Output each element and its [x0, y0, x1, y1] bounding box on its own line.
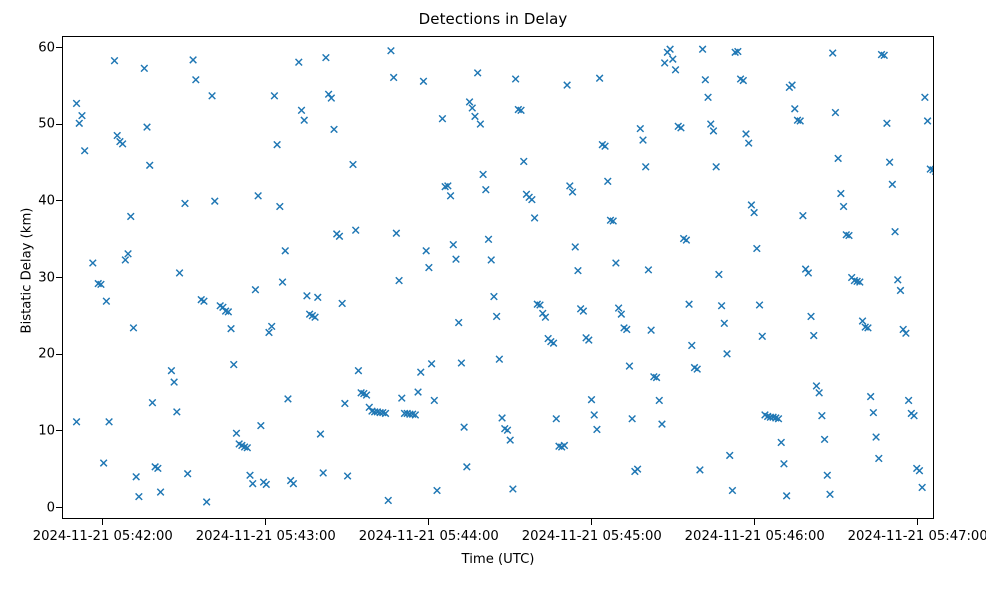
scatter-marker: [924, 118, 931, 125]
scatter-marker: [726, 452, 733, 459]
scatter-marker: [561, 442, 568, 449]
scatter-marker: [268, 323, 275, 330]
scatter-marker: [157, 489, 164, 496]
scatter-marker: [249, 480, 256, 487]
scatter-marker: [661, 60, 668, 67]
scatter-marker: [100, 460, 107, 467]
scatter-marker: [821, 436, 828, 443]
scatter-marker: [344, 473, 351, 480]
scatter-marker: [802, 266, 809, 273]
scatter-marker: [320, 470, 327, 477]
scatter-marker: [420, 78, 427, 85]
scatter-marker: [426, 264, 433, 271]
scatter-marker: [640, 137, 647, 144]
x-tick-mark: [754, 519, 755, 525]
scatter-marker: [586, 337, 593, 344]
scatter-marker: [393, 230, 400, 237]
y-tick-label: 50: [38, 117, 55, 132]
scatter-marker: [889, 181, 896, 188]
scatter-marker: [645, 267, 652, 274]
scatter-marker: [615, 305, 622, 312]
x-tick-mark: [917, 519, 918, 525]
scatter-marker: [870, 409, 877, 416]
scatter-marker: [659, 421, 666, 428]
scatter-marker: [702, 76, 709, 83]
scatter-marker: [694, 366, 701, 373]
scatter-marker: [783, 493, 790, 500]
scatter-marker: [911, 412, 918, 419]
scatter-marker: [751, 209, 758, 216]
scatter-marker: [672, 67, 679, 74]
scatter-marker: [900, 326, 907, 333]
scatter-marker: [594, 426, 601, 433]
scatter-marker: [103, 298, 110, 305]
scatter-marker: [182, 200, 189, 207]
scatter-marker: [816, 390, 823, 397]
scatter-marker: [716, 271, 723, 278]
scatter-marker: [461, 424, 468, 431]
scatter-marker: [141, 65, 148, 72]
scatter-marker: [233, 430, 240, 437]
scatter-marker: [496, 356, 503, 363]
scatter-marker: [838, 190, 845, 197]
scatter-marker: [190, 57, 197, 64]
scatter-marker: [504, 427, 511, 434]
scatter-marker: [144, 124, 151, 131]
x-tick-label: 2024-11-21 05:47:00: [848, 529, 986, 544]
scatter-marker: [699, 46, 706, 53]
scatter-marker: [867, 393, 874, 400]
scatter-marker: [529, 196, 536, 203]
scatter-marker: [903, 330, 910, 337]
scatter-marker: [146, 162, 153, 169]
scatter-marker: [493, 313, 500, 320]
scatter-marker: [266, 329, 273, 336]
scatter-marker: [263, 481, 270, 488]
scatter-marker: [81, 147, 88, 154]
x-tick-label: 2024-11-21 05:43:00: [196, 529, 336, 544]
scatter-marker: [388, 47, 395, 54]
scatter-marker: [73, 419, 80, 426]
scatter-marker: [79, 112, 86, 119]
scatter-marker: [756, 302, 763, 309]
scatter-marker: [748, 202, 755, 209]
scatter-marker: [686, 301, 693, 308]
scatter-marker: [488, 257, 495, 264]
scatter-marker: [171, 379, 178, 386]
scatter-marker: [258, 422, 265, 429]
scatter-marker: [342, 400, 349, 407]
scatter-marker: [423, 247, 430, 254]
scatter-marker: [201, 298, 208, 305]
scatter-marker: [835, 155, 842, 162]
scatter-marker: [119, 141, 126, 148]
scatter-marker: [705, 94, 712, 101]
scatter-marker: [472, 113, 479, 120]
scatter-marker: [626, 363, 633, 370]
scatter-marker: [168, 367, 175, 374]
scatter-marker: [317, 431, 324, 438]
scatter-marker: [539, 310, 546, 317]
scatter-marker: [840, 203, 847, 210]
scatter-marker: [637, 125, 644, 132]
y-tick-label: 40: [38, 193, 55, 208]
scatter-marker: [477, 121, 484, 128]
scatter-marker: [873, 434, 880, 441]
scatter-marker: [130, 325, 137, 332]
scatter-marker: [678, 125, 685, 132]
scatter-marker: [892, 228, 899, 235]
scatter-marker: [296, 59, 303, 66]
scatter-marker: [247, 472, 254, 479]
scatter-marker: [550, 340, 557, 347]
scatter-marker: [417, 369, 424, 376]
scatter-marker: [754, 245, 761, 252]
scatter-marker: [499, 415, 506, 422]
scatter-marker: [905, 397, 912, 404]
scatter-marker: [252, 286, 259, 293]
scatter-marker: [618, 311, 625, 318]
scatter-marker: [707, 121, 714, 128]
scatter-marker: [203, 499, 210, 506]
scatter-marker: [569, 189, 576, 196]
scatter-marker: [648, 327, 655, 334]
y-tick-label: 10: [38, 423, 55, 438]
scatter-marker: [642, 164, 649, 171]
scatter-marker: [602, 143, 609, 150]
scatter-marker: [832, 109, 839, 116]
scatter-marker: [458, 360, 465, 367]
scatter-marker: [813, 383, 820, 390]
scatter-marker: [323, 54, 330, 61]
scatter-marker: [298, 107, 305, 114]
scatter-marker: [149, 399, 156, 406]
scatter-marker: [398, 395, 405, 402]
scatter-marker: [122, 257, 129, 264]
scatter-marker: [667, 46, 674, 53]
scatter-marker: [810, 332, 817, 339]
scatter-marker: [827, 491, 834, 498]
x-tick-label: 2024-11-21 05:44:00: [359, 529, 499, 544]
scatter-marker: [886, 159, 893, 166]
scatter-marker: [491, 293, 498, 300]
scatter-marker: [778, 439, 785, 446]
scatter-marker: [466, 99, 473, 106]
scatter-marker: [623, 326, 630, 333]
scatter-marker: [290, 480, 297, 487]
scatter-marker: [431, 397, 438, 404]
scatter-marker: [876, 455, 883, 462]
scatter-marker: [520, 158, 527, 165]
scatter-marker: [325, 91, 332, 98]
scatter-marker: [483, 186, 490, 193]
scatter-marker: [282, 247, 289, 254]
y-tick-label: 30: [38, 270, 55, 285]
scatter-points-layer: [63, 37, 933, 518]
x-tick-label: 2024-11-21 05:42:00: [33, 529, 173, 544]
scatter-marker: [352, 227, 359, 234]
scatter-marker: [596, 75, 603, 82]
scatter-marker: [285, 396, 292, 403]
scatter-marker: [710, 128, 717, 135]
x-axis-label: Time (UTC): [62, 552, 934, 567]
scatter-marker: [724, 351, 731, 358]
scatter-marker: [230, 361, 237, 368]
scatter-marker: [629, 415, 636, 422]
scatter-marker: [613, 260, 620, 267]
scatter-marker: [385, 497, 392, 504]
scatter-marker: [474, 70, 481, 77]
scatter-marker: [800, 212, 807, 219]
scatter-marker: [542, 314, 549, 321]
scatter-marker: [697, 467, 704, 474]
scatter-marker: [228, 325, 235, 332]
y-axis-label: Bistatic Delay (km): [20, 141, 35, 401]
scatter-marker: [331, 126, 338, 133]
scatter-marker: [428, 360, 435, 367]
scatter-marker: [567, 183, 574, 190]
scatter-marker: [469, 105, 476, 112]
scatter-marker: [127, 213, 134, 220]
scatter-marker: [485, 236, 492, 243]
scatter-marker: [683, 237, 690, 244]
scatter-marker: [176, 270, 183, 277]
scatter-marker: [688, 342, 695, 349]
scatter-marker: [133, 473, 140, 480]
scatter-marker: [829, 50, 836, 57]
scatter-marker: [759, 333, 766, 340]
scatter-marker: [271, 93, 278, 100]
scatter-marker: [209, 93, 216, 100]
scatter-marker: [510, 486, 517, 493]
scatter-marker: [336, 233, 343, 240]
scatter-marker: [745, 140, 752, 147]
scatter-marker: [73, 100, 80, 107]
scatter-marker: [740, 77, 747, 84]
scatter-marker: [255, 193, 262, 200]
scatter-marker: [455, 319, 462, 326]
scatter-marker: [789, 82, 796, 89]
scatter-marker: [339, 300, 346, 307]
scatter-marker: [174, 409, 181, 416]
y-tick-label: 0: [47, 500, 55, 515]
scatter-marker: [553, 415, 560, 422]
scatter-marker: [575, 267, 582, 274]
scatter-marker: [350, 161, 357, 168]
scatter-marker: [512, 76, 519, 83]
scatter-marker: [604, 178, 611, 185]
scatter-marker: [125, 251, 132, 258]
scatter-marker: [464, 464, 471, 471]
scatter-marker: [656, 397, 663, 404]
scatter-marker: [507, 437, 514, 444]
matplotlib-figure: Detections in Delay 0102030405060 2024-1…: [0, 0, 986, 590]
scatter-marker: [919, 484, 926, 491]
scatter-marker: [805, 270, 812, 277]
scatter-marker: [193, 76, 200, 83]
scatter-marker: [743, 131, 750, 138]
x-tick-mark: [265, 519, 266, 525]
scatter-marker: [480, 171, 487, 178]
scatter-marker: [136, 493, 143, 500]
scatter-marker: [916, 467, 923, 474]
scatter-marker: [76, 120, 83, 127]
scatter-marker: [450, 241, 457, 248]
scatter-marker: [439, 115, 446, 122]
chart-title: Detections in Delay: [0, 10, 986, 28]
scatter-marker: [155, 465, 162, 472]
scatter-marker: [572, 244, 579, 251]
scatter-marker: [279, 279, 286, 286]
scatter-marker: [184, 470, 191, 477]
scatter-marker: [114, 132, 121, 139]
scatter-marker: [791, 105, 798, 112]
x-tick-mark: [591, 519, 592, 525]
scatter-marker: [922, 94, 929, 101]
scatter-marker: [111, 57, 118, 64]
scatter-marker: [591, 412, 598, 419]
scatter-marker: [634, 466, 641, 473]
scatter-marker: [328, 95, 335, 102]
scatter-marker: [274, 141, 281, 148]
scatter-marker: [390, 74, 397, 81]
x-tick-mark: [102, 519, 103, 525]
x-tick-label: 2024-11-21 05:45:00: [522, 529, 662, 544]
scatter-marker: [301, 117, 308, 124]
scatter-marker: [824, 472, 831, 479]
scatter-marker: [415, 389, 422, 396]
scatter-marker: [304, 293, 311, 300]
scatter-marker: [729, 487, 736, 494]
scatter-marker: [211, 198, 218, 205]
scatter-marker: [564, 82, 571, 89]
scatter-marker: [531, 215, 538, 222]
scatter-marker: [277, 203, 284, 210]
scatter-marker: [781, 461, 788, 468]
x-tick-label: 2024-11-21 05:46:00: [685, 529, 825, 544]
scatter-marker: [314, 294, 321, 301]
scatter-marker: [721, 320, 728, 327]
scatter-marker: [819, 412, 826, 419]
y-tick-label: 60: [38, 40, 55, 55]
scatter-marker: [355, 367, 362, 374]
plot-area[interactable]: [62, 36, 934, 519]
scatter-marker: [859, 318, 866, 325]
scatter-marker: [396, 277, 403, 284]
scatter-marker: [670, 56, 677, 63]
scatter-marker: [106, 419, 113, 426]
scatter-marker: [588, 396, 595, 403]
scatter-marker: [434, 487, 441, 494]
scatter-marker: [808, 313, 815, 320]
scatter-marker: [894, 277, 901, 284]
y-tick-label: 20: [38, 347, 55, 362]
scatter-marker: [447, 193, 454, 200]
x-tick-mark: [428, 519, 429, 525]
scatter-marker: [453, 256, 460, 263]
scatter-marker: [713, 164, 720, 171]
scatter-marker: [718, 302, 725, 309]
scatter-marker: [90, 260, 97, 267]
scatter-marker: [897, 287, 904, 294]
scatter-marker: [580, 308, 587, 315]
scatter-marker: [884, 120, 891, 127]
